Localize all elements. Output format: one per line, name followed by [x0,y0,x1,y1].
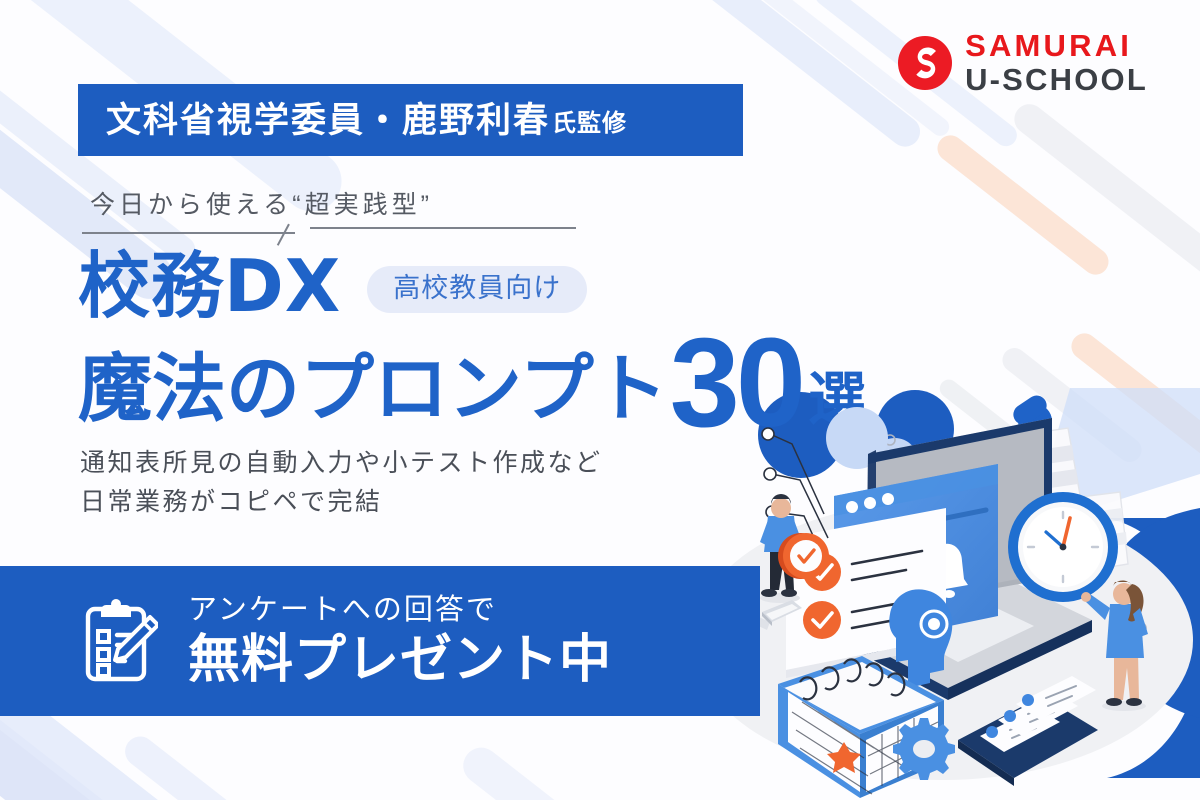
headline-koumu-dx: 校務DX [78,250,341,322]
supervisor-badge: 文科省視学委員・鹿野利春 氏監修 [78,84,743,156]
clipboard-pencil-icon [84,599,158,683]
description-block: 通知表所見の自動入力や小テスト作成など 日常業務がコピペで完結 [80,444,603,522]
cta-band: アンケートへの回答で 無料プレゼント中 [0,566,760,716]
decor-stripe [456,740,620,800]
description-line-2: 日常業務がコピペで完結 [80,483,603,522]
promo-banner: SAMURAI U-SCHOOL 文科省視学委員・鹿野利春 氏監修 今日から使え… [0,0,1200,800]
samurai-swirl-mark [897,35,953,91]
eyebrow-rule [82,226,576,240]
eyebrow-block: 今日から使える“超実践型” [82,190,702,240]
logo-line-samurai: SAMURAI [965,30,1148,61]
rule-right [310,227,576,229]
brand-logo[interactable]: SAMURAI U-SCHOOL [897,30,1148,95]
supervisor-name: 文科省視学委員・鹿野利春 [106,103,550,138]
supervisor-suffix: 氏監修 [550,104,627,136]
decor-stripe [932,130,1113,280]
school-dx-illustration [700,388,1200,800]
headline-magic-prompt: 魔法のプロンプト [78,352,668,434]
rule-left [82,232,295,234]
eyebrow-text: 今日から使える“超実践型” [82,190,702,221]
audience-pill: 高校教員向け [367,266,587,313]
decor-stripe [119,730,311,800]
description-line-1: 通知表所見の自動入力や小テスト作成など [80,444,603,483]
logo-line-uschool: U-SCHOOL [965,64,1148,95]
cta-headline: 無料プレゼント中 [188,633,612,688]
rule-slash [277,224,290,246]
decor-stripe [1008,98,1200,282]
cta-subtext: アンケートへの回答で [188,595,612,627]
